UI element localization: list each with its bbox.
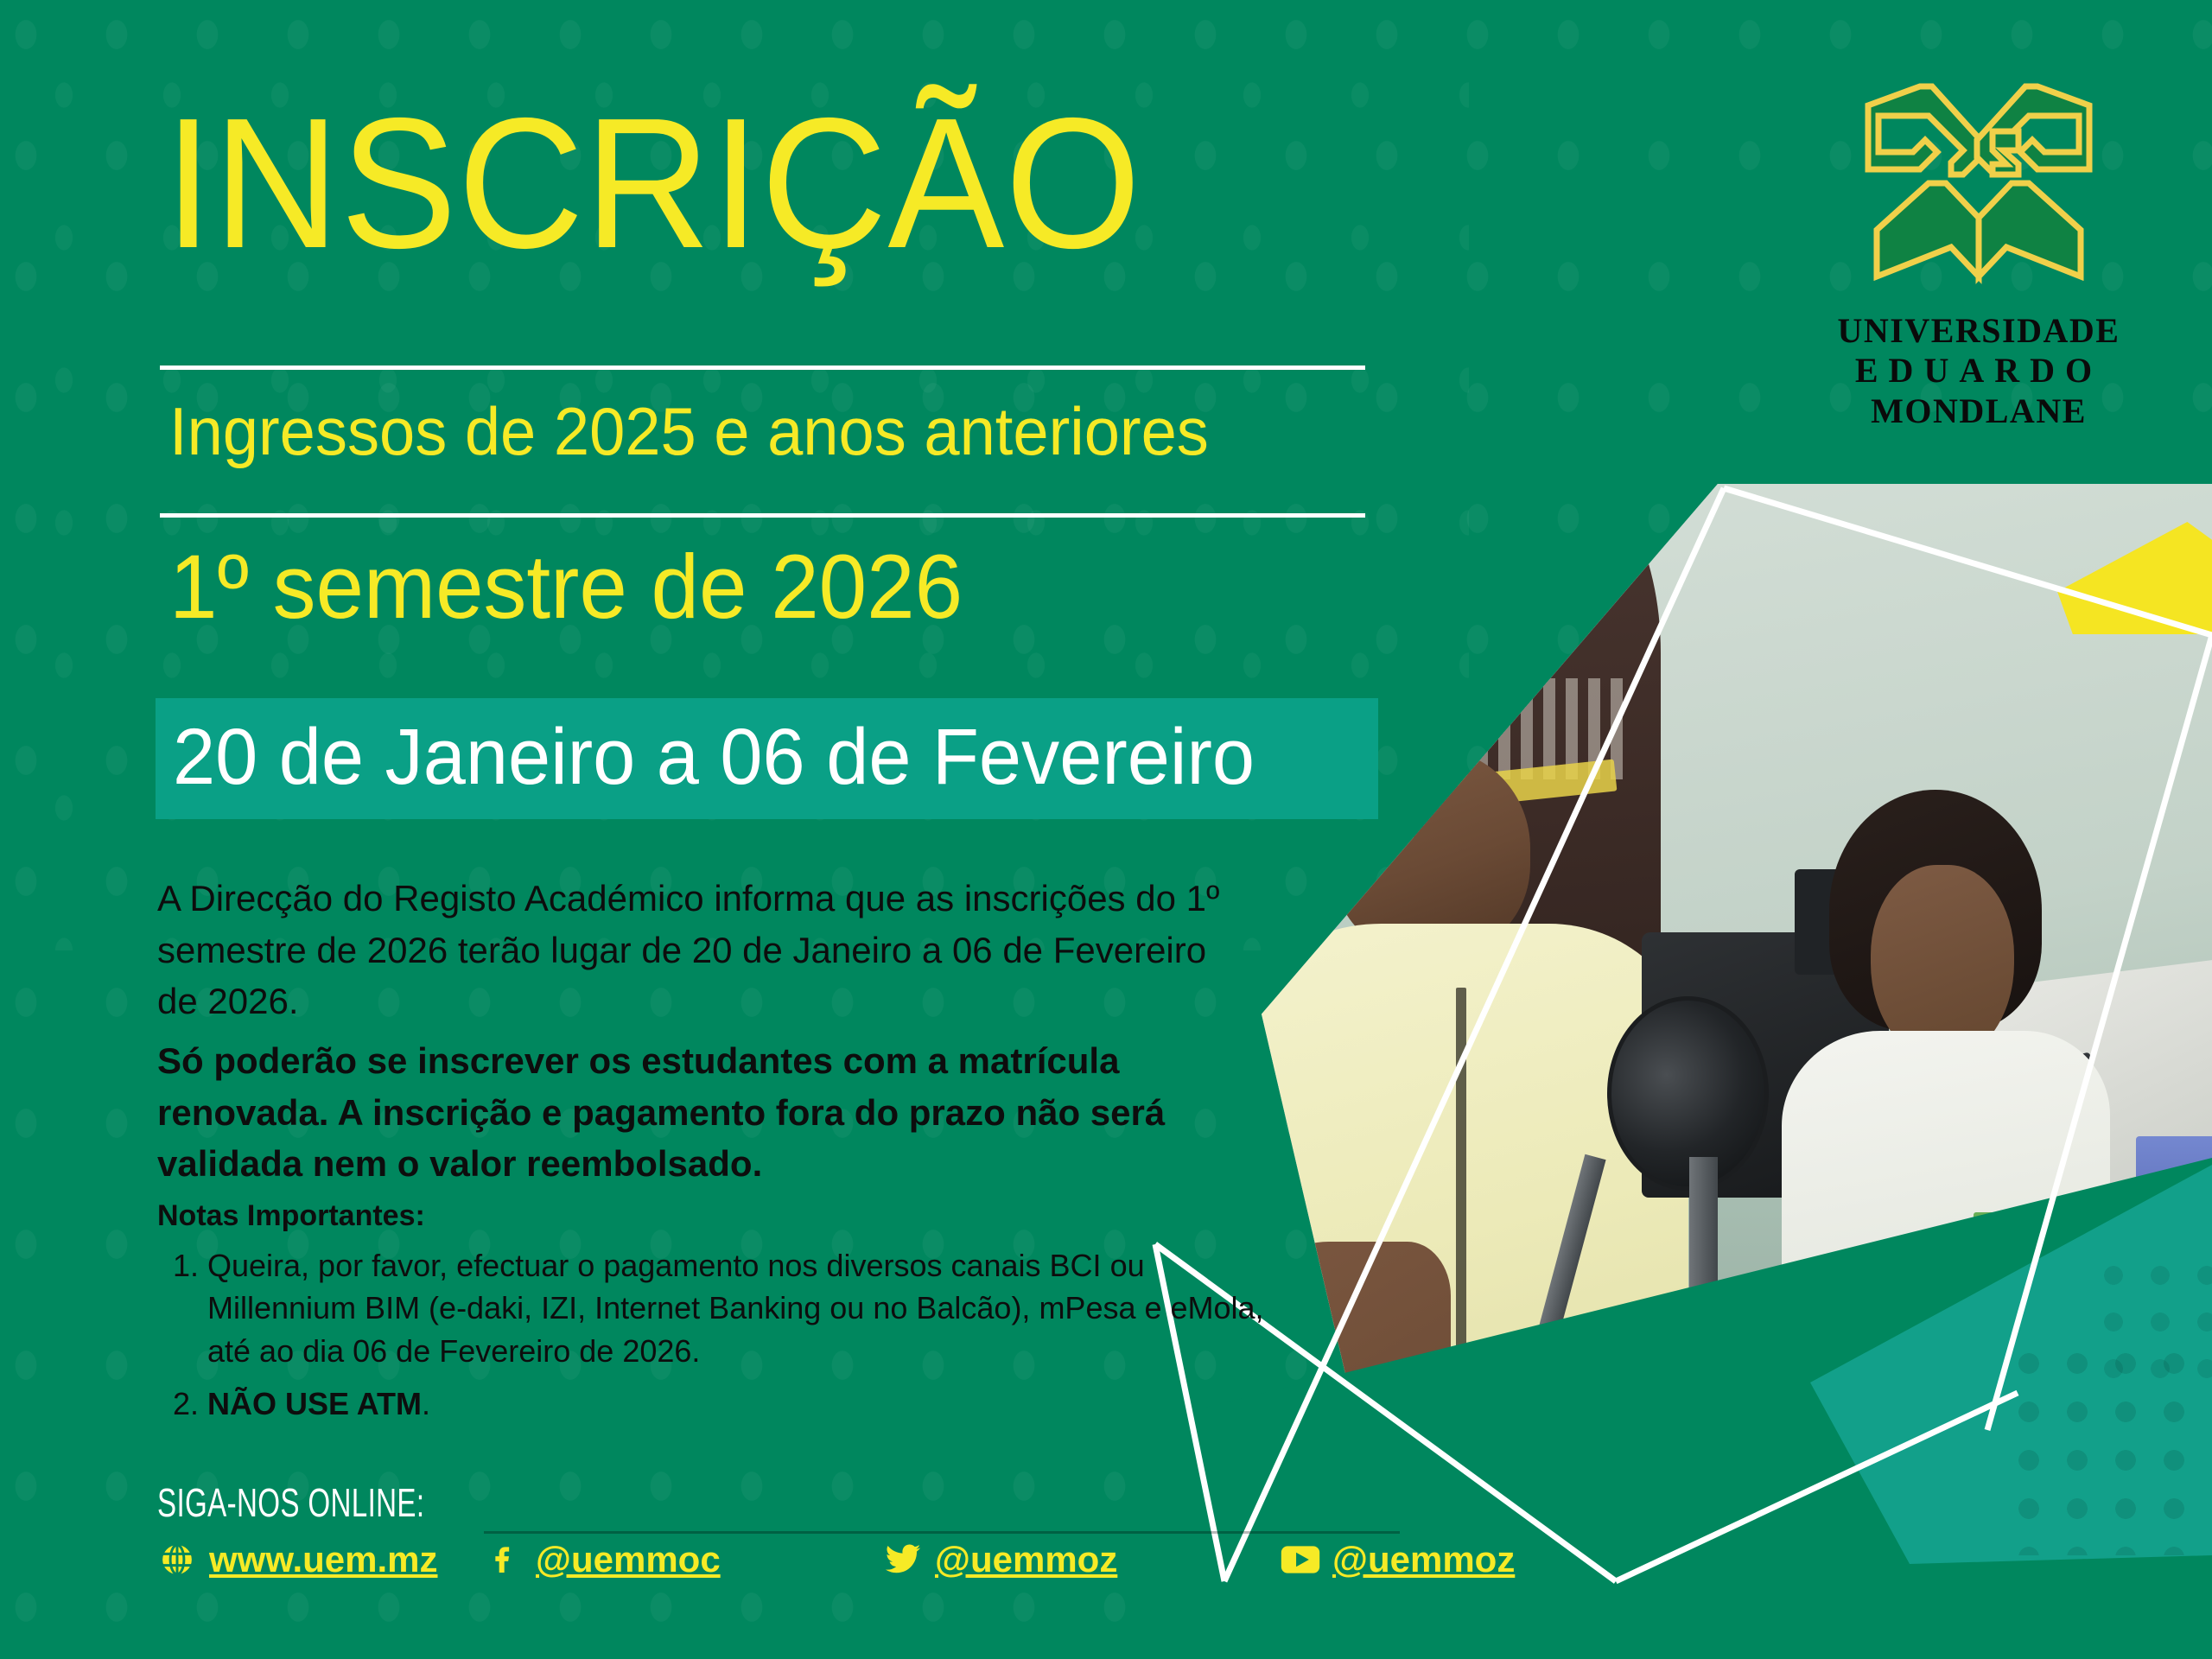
photo-seated-woman xyxy=(1775,790,2117,1503)
social-links-row: www.uem.mz @uemmoc @uemmoz xyxy=(157,1534,1419,1611)
facebook-icon xyxy=(484,1540,524,1580)
social-link-website[interactable]: www.uem.mz xyxy=(157,1539,438,1580)
photo-man-shirt-placket xyxy=(1456,988,1467,1497)
date-range-text: 20 de Janeiro a 06 de Fevereiro xyxy=(173,717,1255,797)
semester-label: 1º semestre de 2026 xyxy=(169,542,963,632)
page-title: INSCRIÇÃO xyxy=(164,95,1141,271)
paragraph-announcement: A Direcção do Registo Académico informa … xyxy=(157,873,1220,1027)
social-link-youtube[interactable]: @uemmoz xyxy=(1281,1539,1515,1580)
social-handle-youtube: @uemmoz xyxy=(1332,1539,1515,1580)
date-range-banner: 20 de Janeiro a 06 de Fevereiro xyxy=(156,698,1378,819)
photo-woman-shirt-badge xyxy=(1974,1212,2018,1281)
poster-canvas: UNIVERSIDADE EDUARDO MONDLANE INSCRIÇÃO … xyxy=(0,0,2212,1659)
notes-list: Queira, por favor, efectuar o pagamento … xyxy=(157,1244,1296,1435)
note-item-2-tail: . xyxy=(422,1386,430,1421)
logo-line-2: EDUARDO xyxy=(1823,351,2134,391)
uem-wordmark: UNIVERSIDADE EDUARDO MONDLANE xyxy=(1823,311,2134,431)
paragraph-conditions: Só poderão se inscrever os estudantes co… xyxy=(157,1035,1220,1190)
notes-heading: Notas Importantes: xyxy=(157,1199,425,1233)
note-item-1: Queira, por favor, efectuar o pagamento … xyxy=(207,1244,1296,1372)
social-handle-website: www.uem.mz xyxy=(209,1539,438,1580)
social-handle-twitter: @uemmoz xyxy=(935,1539,1117,1580)
globe-icon xyxy=(157,1540,197,1580)
follow-us-label: SIGA-NOS ONLINE: xyxy=(157,1479,424,1526)
divider-top xyxy=(160,365,1365,370)
divider-bottom xyxy=(160,513,1365,518)
photo-tripod-center-leg xyxy=(1689,1157,1718,1503)
photo-blue-object xyxy=(2136,1136,2212,1300)
twitter-icon xyxy=(883,1540,923,1580)
youtube-icon xyxy=(1281,1540,1320,1580)
social-handle-facebook: @uemmoc xyxy=(536,1539,721,1580)
logo-line-1: UNIVERSIDADE xyxy=(1823,311,2134,351)
content-column: INSCRIÇÃO Ingressos de 2025 e anos anter… xyxy=(0,0,1400,1659)
uem-butterfly-mark xyxy=(1849,78,2108,302)
students-photo xyxy=(1262,484,2212,1503)
note-item-2-emphasis: NÃO USE ATM xyxy=(207,1386,422,1421)
photo-camera-lens xyxy=(1607,996,1769,1191)
logo-line-3: MONDLANE xyxy=(1823,391,2134,431)
photo-woman-shirt xyxy=(1782,1031,2110,1503)
note-item-2: NÃO USE ATM. xyxy=(207,1382,1296,1425)
social-link-twitter[interactable]: @uemmoz xyxy=(883,1539,1117,1580)
subtitle: Ingressos de 2025 e anos anteriores xyxy=(169,397,1209,465)
social-link-facebook[interactable]: @uemmoc xyxy=(484,1539,721,1580)
uem-logo: UNIVERSIDADE EDUARDO MONDLANE xyxy=(1823,78,2134,431)
